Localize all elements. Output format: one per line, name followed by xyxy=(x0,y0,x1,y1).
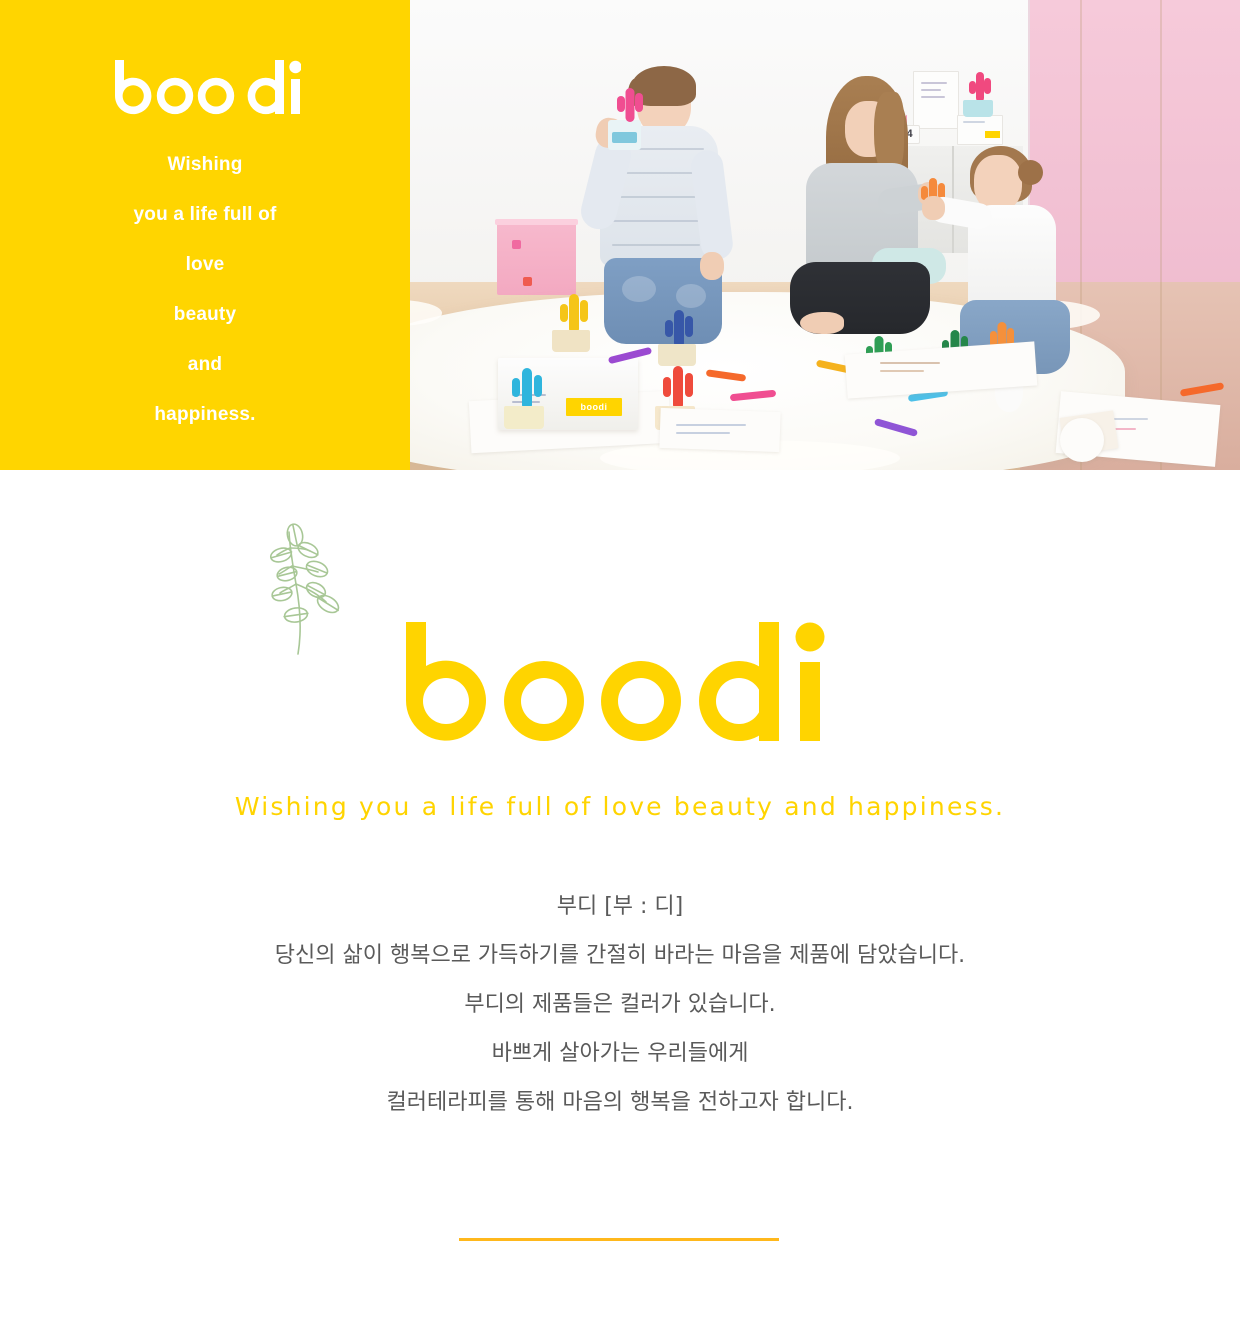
denim-highlight xyxy=(622,276,656,302)
pink-cabinet-top xyxy=(495,219,578,225)
cactus-pot xyxy=(658,344,696,366)
poster-text-line xyxy=(921,96,945,98)
about-logo xyxy=(0,618,1240,749)
product-box-tag xyxy=(985,131,1000,138)
about-copy-line-4: 바쁘게 살아가는 우리들에게 xyxy=(0,1029,1240,1078)
knit-texture xyxy=(610,196,702,198)
poster-text-line xyxy=(921,82,947,84)
section-divider xyxy=(459,1238,779,1241)
cactus-toy-pink xyxy=(968,72,992,102)
cactus-pot xyxy=(552,330,590,352)
slogan-line-4: beauty xyxy=(0,290,410,340)
about-section: Wishing you a life full of love beauty a… xyxy=(0,470,1240,1338)
boy-hand-right xyxy=(700,252,724,280)
hero-slogan: Wishing you a life full of love beauty a… xyxy=(0,140,410,440)
product-box-line xyxy=(963,121,985,123)
brand-detail-page: 7 4 xyxy=(0,0,1240,1338)
pink-cabinet xyxy=(497,222,576,295)
cactus-magnet xyxy=(523,277,532,286)
cactus-magnet xyxy=(512,240,521,249)
sheet-line xyxy=(880,370,924,372)
sheet-line xyxy=(676,424,746,426)
about-copy-line-5: 컬러테라피를 통해 마음의 행복을 전하고자 합니다. xyxy=(0,1078,1240,1127)
about-copy-line-2: 당신의 삶이 행복으로 가득하기를 간절히 바라는 마음을 제품에 담았습니다. xyxy=(0,931,1240,980)
denim-highlight xyxy=(676,284,706,308)
sheet-line xyxy=(880,362,940,364)
cactus-toy-red xyxy=(661,366,695,410)
about-copy: 부디 [부 : 디] 당신의 삶이 행복으로 가득하기를 간절히 바라는 마음을… xyxy=(0,882,1240,1127)
cactus-toy-yellow xyxy=(558,294,590,334)
poster-text-line xyxy=(921,89,941,91)
printed-sheet xyxy=(659,408,780,452)
gift-box-logo: boodi xyxy=(566,398,622,416)
slogan-line-2: you a life full of xyxy=(0,190,410,240)
cactus-pot xyxy=(963,100,993,117)
hero-logo xyxy=(0,58,410,123)
girl-hand xyxy=(922,196,945,220)
slogan-line-5: and xyxy=(0,340,410,390)
about-copy-line-3: 부디의 제품들은 컬러가 있습니다. xyxy=(0,980,1240,1029)
cactus-toy-cyan xyxy=(510,368,544,410)
slogan-line-3: love xyxy=(0,240,410,290)
slogan-line-6: happiness. xyxy=(0,390,410,440)
cactus-pot xyxy=(504,406,544,429)
paper-cup-pattern xyxy=(612,132,637,143)
round-sticker xyxy=(1060,418,1104,462)
slogan-line-1: Wishing xyxy=(0,140,410,190)
product-box xyxy=(957,115,1003,145)
hero-brand-panel: Wishing you a life full of love beauty a… xyxy=(0,0,410,470)
about-copy-line-1: 부디 [부 : 디] xyxy=(0,882,1240,931)
girl-hair-bun xyxy=(1018,160,1043,185)
knit-texture xyxy=(606,220,706,222)
cactus-toy-magenta xyxy=(615,88,645,122)
hero-section: 7 4 xyxy=(0,0,1240,470)
about-tagline: Wishing you a life full of love beauty a… xyxy=(0,792,1240,821)
knit-texture xyxy=(612,244,700,246)
sheet-line xyxy=(676,432,730,434)
cactus-toy-navy xyxy=(663,310,695,348)
mom-foot xyxy=(800,312,844,334)
wall-pink xyxy=(1030,0,1240,286)
poster-frame xyxy=(913,71,959,129)
